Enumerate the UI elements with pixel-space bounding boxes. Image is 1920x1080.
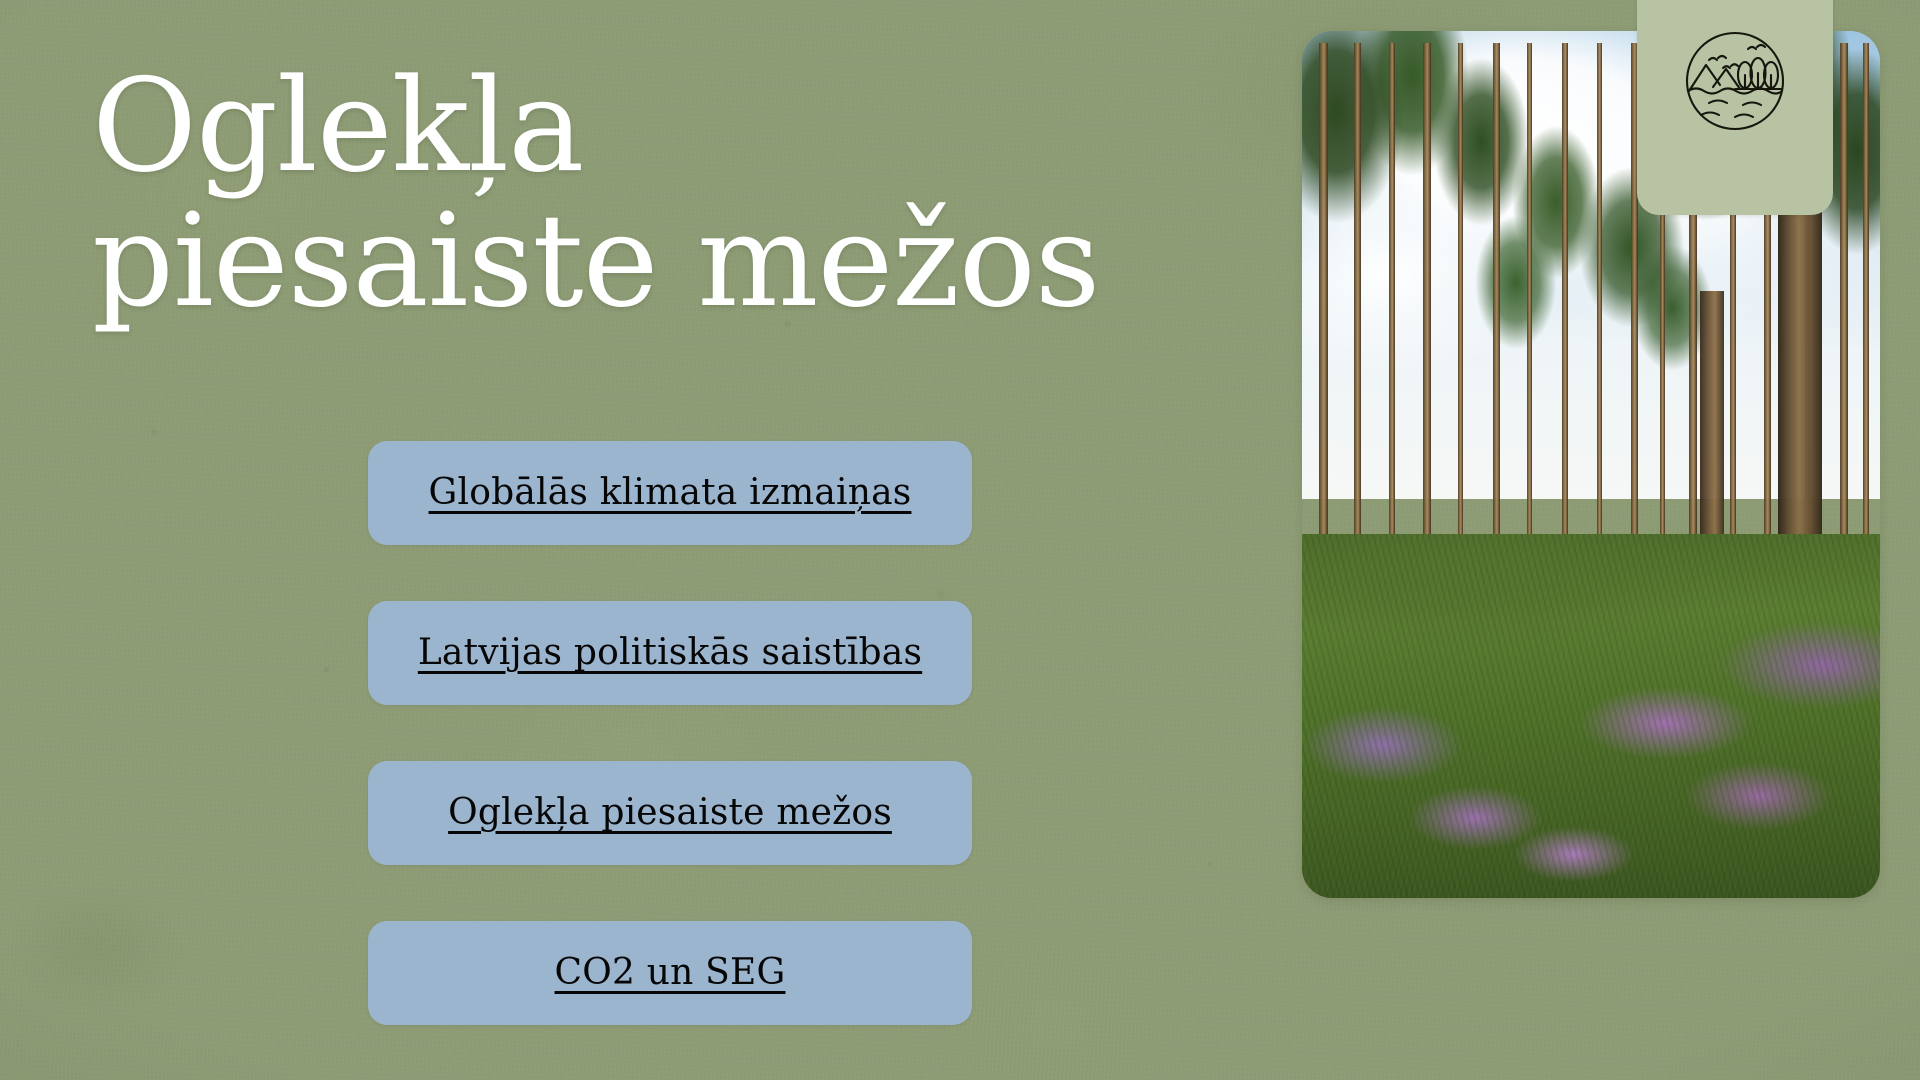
- section-navigation-list: Globālās klimata izmaiņas Latvijas polit…: [368, 441, 972, 1025]
- page-title: Oglekļa piesaiste mežos: [92, 62, 1212, 327]
- logo-badge: [1637, 0, 1833, 215]
- nav-button-carbon-sequestration-forests[interactable]: Oglekļa piesaiste mežos: [368, 761, 972, 865]
- nav-button-latvia-political-commitments[interactable]: Latvijas politiskās saistības: [368, 601, 972, 705]
- nav-button-co2-and-ghg[interactable]: CO2 un SEG: [368, 921, 972, 1025]
- landscape-circle-logo-icon: [1679, 25, 1791, 137]
- nav-button-label: CO2 un SEG: [368, 955, 972, 991]
- nav-button-global-climate-change[interactable]: Globālās klimata izmaiņas: [368, 441, 972, 545]
- page-title-line-1: Oglekļa: [92, 62, 1212, 193]
- nav-button-label: Oglekļa piesaiste mežos: [368, 795, 972, 831]
- page-title-line-2: piesaiste mežos: [92, 197, 1212, 328]
- photo-forest-floor-grain: [1302, 534, 1880, 898]
- nav-button-label: Globālās klimata izmaiņas: [368, 475, 972, 511]
- presentation-slide: Oglekļa piesaiste mežos Globālās klimata…: [0, 0, 1920, 1080]
- nav-button-label: Latvijas politiskās saistības: [368, 635, 972, 671]
